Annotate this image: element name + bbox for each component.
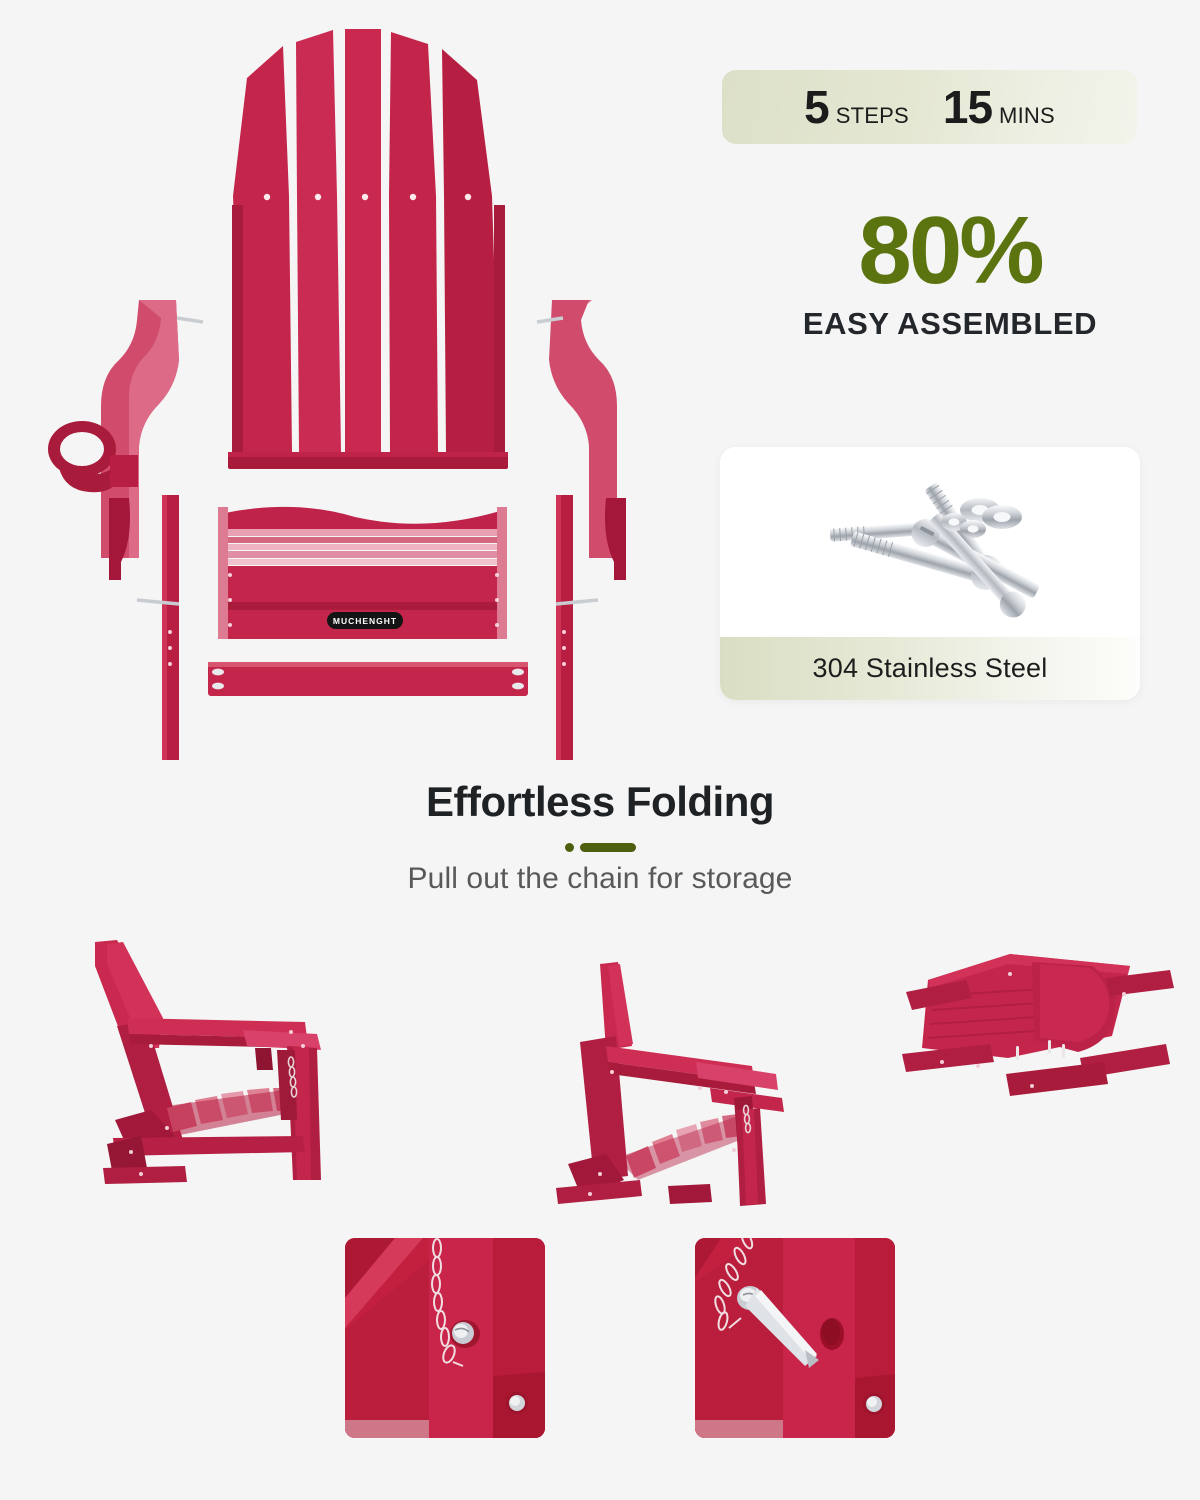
fixing-bolt-panel	[345, 1238, 545, 1438]
steps-time-badge: 5 STEPS 15 MINS	[722, 70, 1137, 144]
folding-subtitle: Pull out the chain for storage	[0, 862, 1200, 896]
percent-subtitle: EASY ASSEMBLED	[700, 306, 1200, 342]
hardware-svg	[720, 447, 1140, 637]
mins-stat: 15 MINS	[943, 84, 1055, 130]
features-column: 5 STEPS 15 MINS 80% EASY ASSEMBLED	[700, 0, 1200, 760]
left-arm-with-cupholder	[48, 300, 203, 760]
divider-dot-icon	[565, 843, 574, 852]
mins-unit: MINS	[999, 103, 1055, 129]
exploded-parts-illustration: MUCHENGHT	[0, 0, 700, 760]
pull-the-bolt-svg	[695, 1238, 895, 1438]
exploded-parts-svg: MUCHENGHT	[0, 0, 700, 760]
chair-upright-svg	[55, 930, 385, 1190]
chair-folding-svg	[520, 950, 820, 1220]
washer-large-2	[982, 505, 1022, 529]
percent-value: 80%	[700, 205, 1200, 296]
folding-title: Effortless Folding	[0, 778, 1200, 826]
hardware-photo	[720, 447, 1140, 637]
screw-head	[863, 1393, 885, 1415]
brand-badge: MUCHENGHT	[327, 612, 403, 629]
screw-head	[506, 1392, 528, 1414]
product-infographic: MUCHENGHT	[0, 0, 1200, 1500]
chair-folded-svg	[880, 940, 1180, 1130]
steps-unit: STEPS	[836, 103, 909, 129]
chair-upright	[55, 930, 385, 1190]
divider-dash-icon	[580, 843, 636, 852]
cross-rail	[208, 662, 528, 696]
folding-sequence	[0, 930, 1200, 1230]
chair-folded-flat	[880, 940, 1180, 1130]
stainless-steel-card: 304 Stainless Steel	[720, 447, 1140, 700]
section-divider	[0, 843, 1200, 852]
steps-value: 5	[804, 84, 829, 130]
folding-header: Effortless Folding Pull out the chain fo…	[0, 778, 1200, 896]
easy-assembled-highlight: 80% EASY ASSEMBLED	[700, 205, 1200, 342]
fixing-bolt-head	[450, 1320, 480, 1348]
pull-the-bolt-panel	[695, 1238, 895, 1438]
steel-caption: 304 Stainless Steel	[720, 637, 1140, 700]
seat-assembly: MUCHENGHT	[218, 507, 507, 639]
svg-text:MUCHENGHT: MUCHENGHT	[333, 616, 397, 626]
fixing-bolt-svg	[345, 1238, 545, 1438]
chair-folding	[520, 950, 820, 1220]
mins-value: 15	[943, 84, 992, 130]
right-arm	[537, 300, 626, 760]
washer-small-2	[960, 520, 986, 538]
chair-back-slats	[228, 29, 508, 469]
steps-stat: 5 STEPS	[804, 84, 909, 130]
